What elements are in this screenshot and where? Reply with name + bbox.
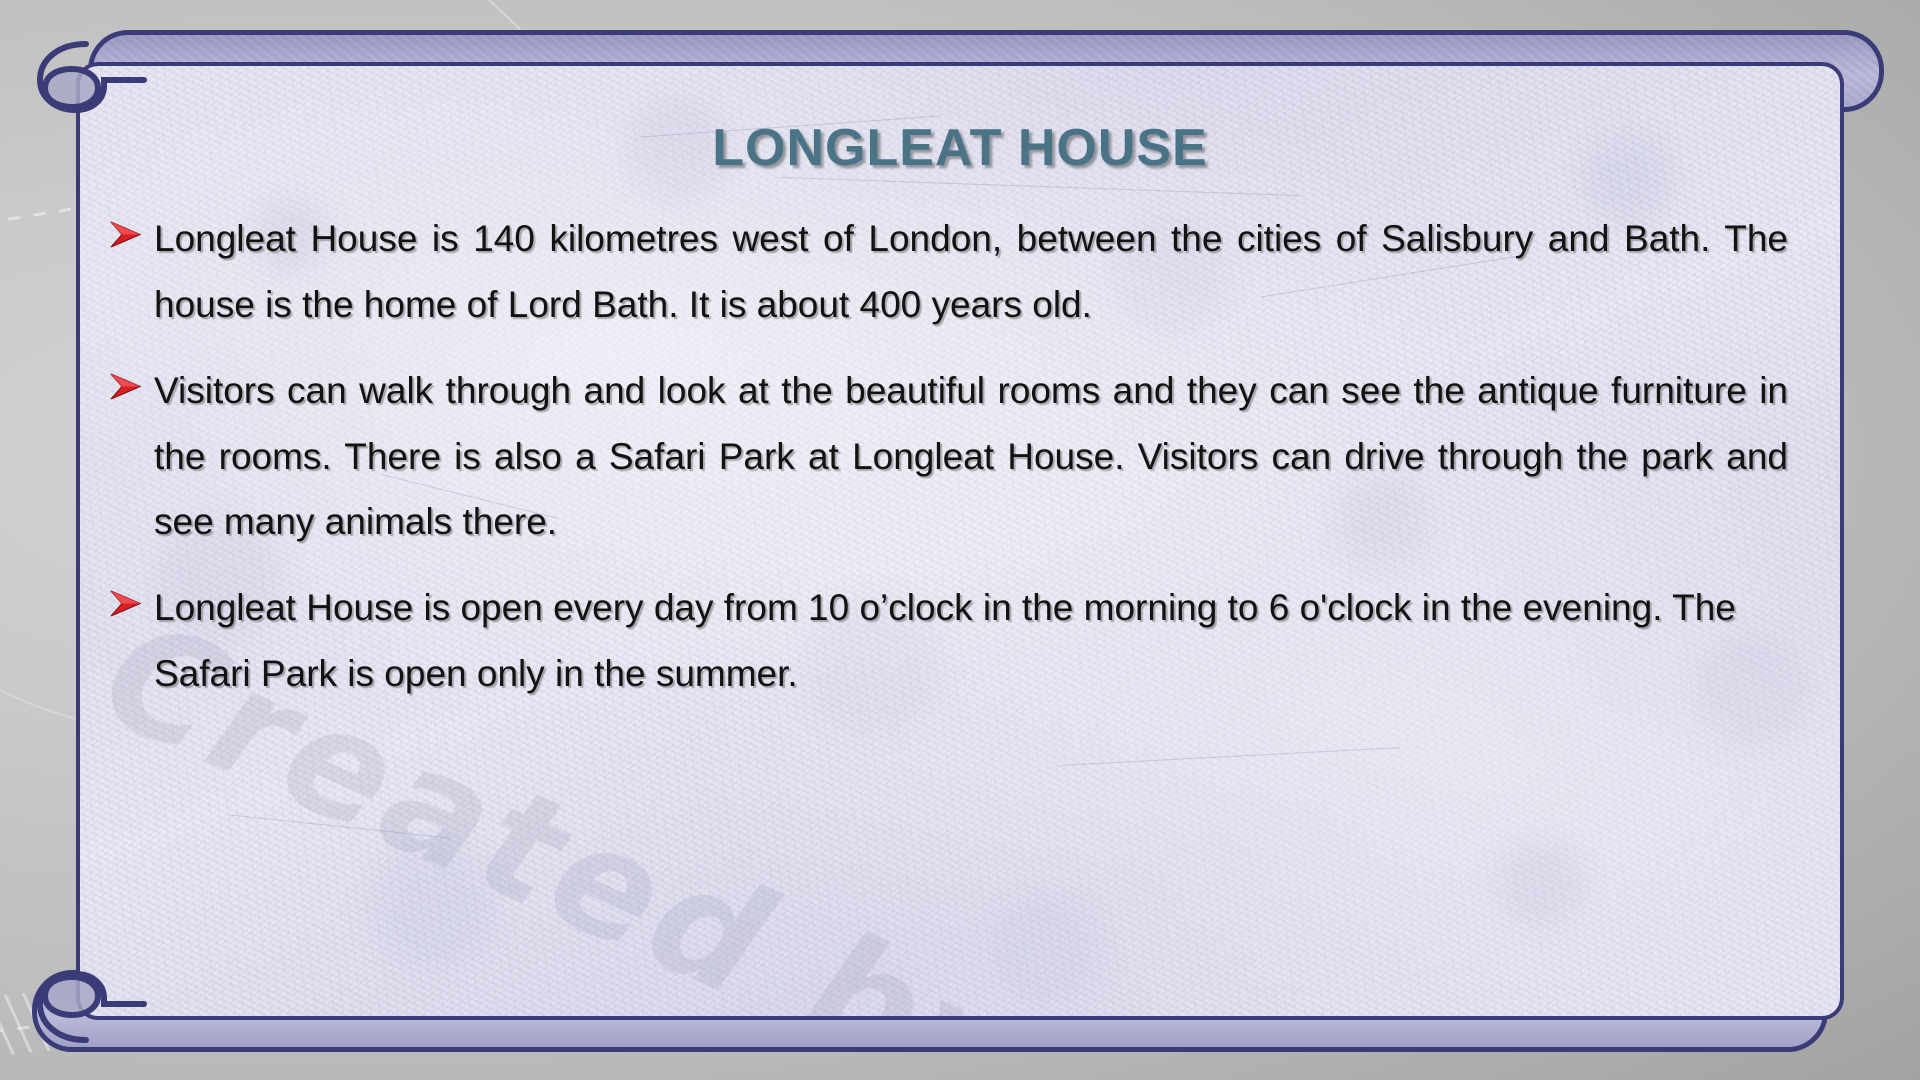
list-item-text: Longleat House is open every day from 10… [154, 575, 1798, 707]
list-item: Longleat House is open every day from 10… [98, 575, 1798, 707]
page-title: LONGLEAT HOUSE [80, 118, 1840, 178]
red-arrowhead-bullet-icon [98, 358, 154, 402]
presentation-slide: 0 9 Created by Mr. A. Keng H. Caglar LON… [0, 0, 1920, 1080]
red-arrowhead-bullet-icon [98, 575, 154, 619]
scroll-frame: Created by Mr. A. Keng H. Caglar LONGLEA… [32, 30, 1886, 1052]
red-arrowhead-bullet-icon [98, 206, 154, 250]
list-item: Longleat House is 140 kilometres west of… [98, 206, 1798, 338]
scroll-curl-top-left-icon [24, 36, 154, 146]
slide-content-panel: Created by Mr. A. Keng H. Caglar LONGLEA… [76, 62, 1844, 1020]
bullet-list: Longleat House is 140 kilometres west of… [98, 206, 1798, 727]
scroll-curl-bottom-left-icon [24, 938, 154, 1050]
list-item: Visitors can walk through and look at th… [98, 358, 1798, 556]
slide-content: LONGLEAT HOUSE Longleat House is 140 kil… [80, 66, 1840, 1016]
list-item-text: Longleat House is 140 kilometres west of… [154, 206, 1798, 338]
list-item-text: Visitors can walk through and look at th… [154, 358, 1798, 556]
